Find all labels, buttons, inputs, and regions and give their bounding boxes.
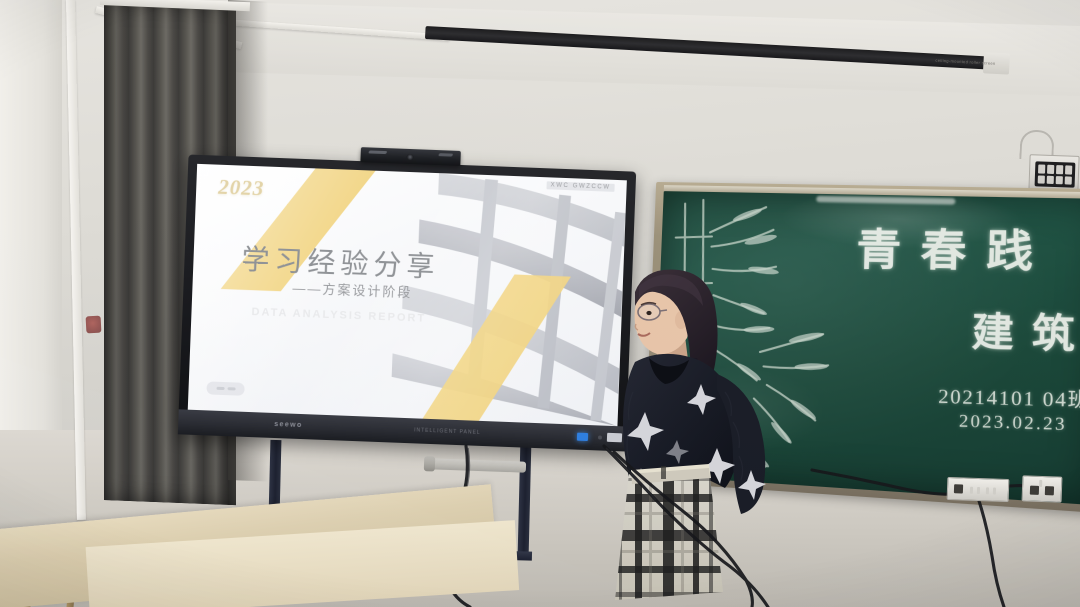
blackboard-date-label: 2023.02.23: [959, 411, 1067, 436]
no-smoking-sticker: [86, 316, 102, 334]
outlet-slot: [977, 487, 980, 494]
keypad-button[interactable]: [1047, 165, 1054, 174]
panel-model-label: INTELLIGENT PANEL: [414, 427, 481, 436]
camera-lens-icon: [406, 154, 413, 160]
presenter-figure: [605, 262, 820, 607]
blackboard-title-line2: 建筑: [971, 299, 1080, 360]
power-indicator-led: [577, 433, 588, 441]
classroom-scene: ceiling-mounted roller screen: [0, 0, 1080, 607]
outlet-socket[interactable]: [1030, 486, 1039, 495]
outlet-socket[interactable]: [1045, 486, 1054, 495]
presentation-slide: XWC GWZCCW 2023 学习经验分享 ——方案设计阶段 DATA ANA…: [188, 164, 627, 426]
power-outlet-left[interactable]: [947, 477, 1010, 502]
keypad-button[interactable]: [1047, 175, 1054, 184]
panel-screen[interactable]: XWC GWZCCW 2023 学习经验分享 ——方案设计阶段 DATA ANA…: [188, 164, 627, 426]
blackboard-title-line1: 青春践: [856, 215, 1055, 281]
camera-highlight: [368, 150, 387, 154]
keypad-button[interactable]: [1065, 165, 1072, 174]
keypad-button[interactable]: [1038, 175, 1045, 184]
badge-dash-icon: [216, 387, 224, 390]
slide-page-badge[interactable]: [206, 381, 244, 395]
ir-receiver-icon: [598, 435, 602, 439]
keypad-button[interactable]: [1038, 164, 1045, 173]
keypad-button[interactable]: [1065, 176, 1072, 185]
blackboard-class-label: 20214101 04班: [938, 381, 1080, 414]
slide-title: 学习经验分享: [241, 238, 440, 286]
keypad-button[interactable]: [1056, 176, 1063, 185]
student-presenter: [605, 262, 820, 607]
outlet-slot: [1039, 480, 1042, 487]
interactive-flat-panel-display[interactable]: XWC GWZCCW 2023 学习经验分享 ——方案设计阶段 DATA ANA…: [178, 155, 636, 452]
badge-dash-icon: [227, 387, 235, 390]
camera-highlight: [438, 153, 453, 156]
keypad-face: [1035, 161, 1076, 187]
panel-brand-logo: seewo: [274, 421, 303, 429]
keypad-button[interactable]: [1056, 165, 1063, 174]
outlet-socket[interactable]: [954, 484, 963, 493]
outlet-slot: [993, 488, 996, 495]
slide-year: 2023: [218, 175, 265, 202]
outlet-slot: [970, 487, 973, 494]
power-outlet-right[interactable]: [1022, 475, 1063, 502]
stand-adjust-knob[interactable]: [424, 456, 436, 471]
outlet-slot: [986, 487, 989, 494]
